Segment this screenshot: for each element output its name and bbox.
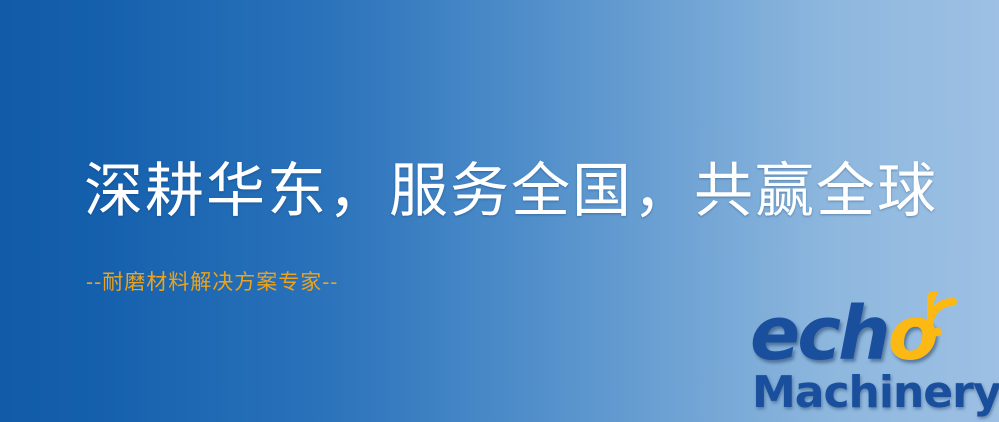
signal-waves-icon bbox=[927, 292, 997, 354]
banner-headline: 深耕华东，服务全国，共赢全球 bbox=[84, 157, 938, 225]
banner-subtitle: --耐磨材料解决方案专家-- bbox=[86, 269, 338, 295]
promo-banner: 深耕华东，服务全国，共赢全球 --耐磨材料解决方案专家-- echo Machi… bbox=[0, 0, 999, 422]
logo-tagline: Machinery® bbox=[752, 368, 999, 418]
echo-machinery-logo[interactable]: echo Machinery® bbox=[744, 296, 999, 422]
logo-tagline-text: Machinery bbox=[752, 367, 999, 418]
logo-wordmark-blue-text: ech bbox=[750, 291, 888, 377]
logo-wordmark: echo bbox=[750, 296, 936, 372]
